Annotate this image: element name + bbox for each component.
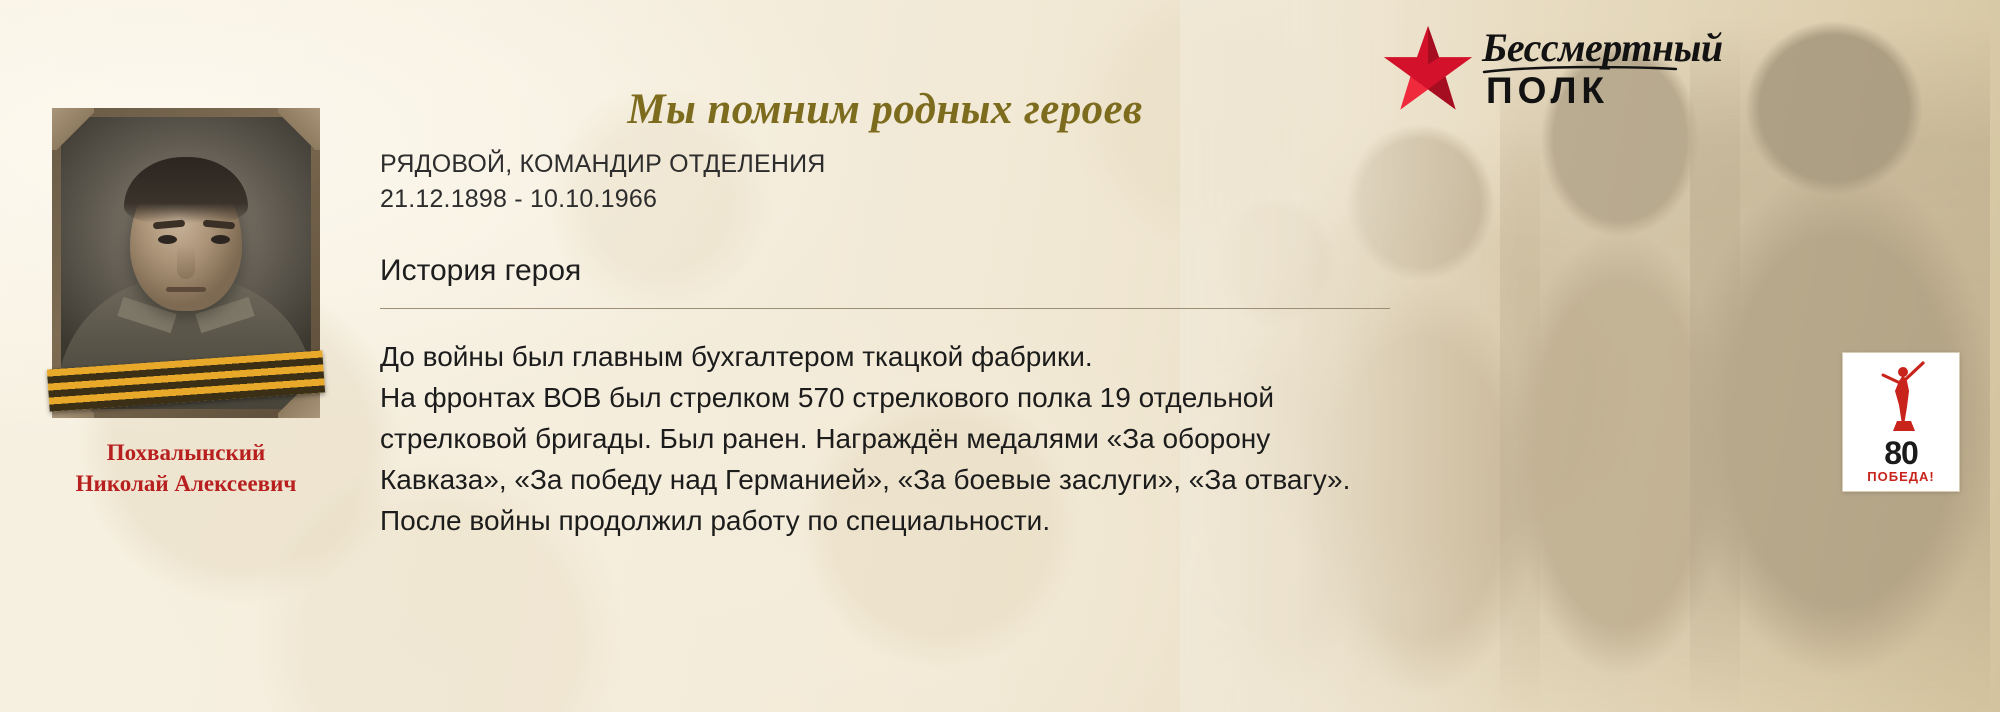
story-line: На фронтах ВОВ был стрелком 570 стрелков…	[380, 378, 1390, 419]
red-star-icon	[1382, 24, 1474, 116]
frame-corner-top-left	[52, 108, 94, 150]
hero-rank: РЯДОВОЙ, КОМАНДИР ОТДЕЛЕНИЯ	[380, 147, 1390, 182]
logo-block-word: ПОЛК	[1486, 70, 1609, 112]
soldier-silhouette-1	[1500, 30, 1740, 712]
hero-given-name: Николай Алексеевич	[52, 469, 320, 500]
badge-years: 80	[1843, 437, 1959, 469]
hero-name: Похвалынский Николай Алексеевич	[52, 438, 320, 500]
bessmertny-polk-logo: Бессмертный ПОЛК	[1382, 18, 1682, 118]
hero-dates: 21.12.1898 - 10.10.1966	[380, 182, 1390, 217]
portrait-hair	[124, 157, 248, 223]
portrait-nose	[177, 245, 195, 279]
motherland-calls-icon	[1873, 361, 1935, 435]
victory-80-badge: 80 ПОБЕДА!	[1842, 352, 1960, 492]
story-line: До войны был главным бухгалтером ткацкой…	[380, 337, 1390, 378]
section-divider	[380, 308, 1390, 309]
memorial-banner: Похвалынский Николай Алексеевич Мы помни…	[0, 0, 2000, 712]
portrait-mouth	[166, 287, 206, 292]
content-column: Мы помним родных героев РЯДОВОЙ, КОМАНДИ…	[380, 86, 1390, 542]
hero-surname: Похвалынский	[52, 438, 320, 469]
portrait-eye-left	[158, 235, 177, 244]
badge-label: ПОБЕДА!	[1843, 469, 1959, 484]
section-heading: История героя	[380, 254, 1390, 288]
banner-title: Мы помним родных героев	[380, 86, 1390, 133]
portrait-block: Похвалынский Николай Алексеевич	[52, 108, 320, 500]
portrait-frame	[52, 108, 320, 418]
story-line: Кавказа», «За победу над Германией», «За…	[380, 460, 1390, 501]
hero-story: До войны был главным бухгалтером ткацкой…	[380, 337, 1390, 541]
story-line: После войны продолжил работу по специаль…	[380, 501, 1390, 542]
portrait-eye-right	[211, 235, 230, 244]
frame-corner-top-right	[278, 108, 320, 150]
story-line: стрелковой бригады. Был ранен. Награждён…	[380, 419, 1390, 460]
